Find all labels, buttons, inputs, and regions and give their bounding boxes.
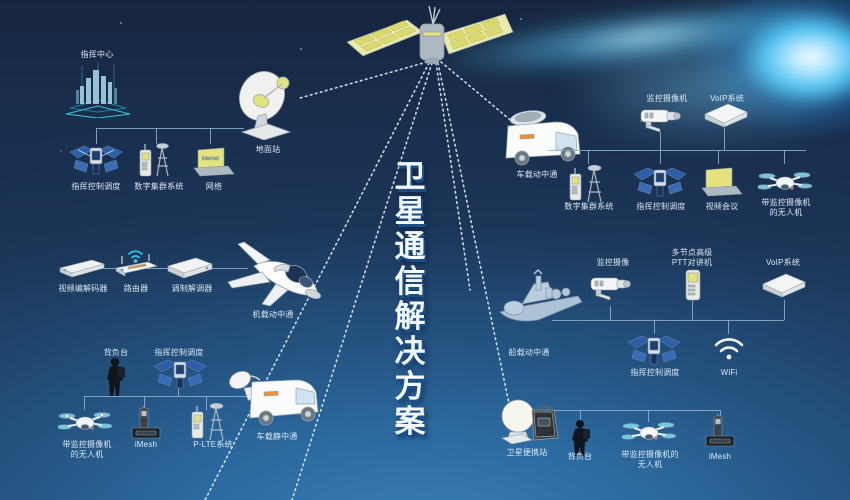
diagram-canvas: 卫 星 通 信 解 决 方 案 指挥中心 bbox=[0, 0, 850, 500]
title-char: 星 bbox=[384, 195, 436, 230]
star-icon bbox=[300, 48, 302, 50]
title-char: 决 bbox=[384, 335, 436, 370]
device-label: 视频编解码器 bbox=[52, 284, 114, 294]
device-label: 指挥控制调度 bbox=[622, 368, 688, 378]
device-label: P-LTE系统 bbox=[186, 440, 240, 450]
satellite bbox=[345, 4, 515, 79]
device-label: 带监控摄像机 的无人机 bbox=[748, 198, 824, 218]
device-label: 调制解调器 bbox=[164, 284, 220, 294]
voip-box-icon bbox=[702, 102, 750, 130]
camera-drone-icon bbox=[758, 168, 812, 198]
connector-line bbox=[552, 320, 784, 321]
device-label: 指挥控制调度 bbox=[62, 182, 130, 192]
star-icon bbox=[520, 18, 522, 20]
command-center-hologram-icon bbox=[62, 60, 134, 118]
backpack-operator-icon bbox=[566, 418, 596, 456]
modem-box-icon bbox=[166, 256, 214, 280]
device-label: 监控摄像 bbox=[586, 258, 640, 268]
device-label: iMesh bbox=[126, 440, 166, 450]
vehicle-mobile-hub-label: 车载动中通 bbox=[504, 170, 570, 180]
device-label: 视频会议 bbox=[700, 202, 744, 212]
command-console-icon bbox=[152, 356, 208, 390]
connector-line bbox=[692, 300, 693, 320]
imesh-radio-icon bbox=[702, 414, 738, 448]
connector-line bbox=[660, 150, 661, 164]
trunking-radio-tower-icon bbox=[138, 140, 176, 178]
connector-line bbox=[724, 128, 725, 150]
wifi-router-icon bbox=[112, 242, 160, 278]
trunking-radio-tower-icon bbox=[568, 162, 608, 204]
satcom-vehicle-mobile-icon bbox=[494, 108, 586, 170]
connector-line bbox=[784, 300, 785, 320]
star-icon bbox=[120, 22, 122, 24]
video-codec-box-icon bbox=[58, 258, 106, 278]
command-console-icon bbox=[632, 164, 688, 198]
device-label: iMesh bbox=[700, 452, 740, 462]
ground-station-label: 地面站 bbox=[238, 145, 298, 155]
title-char: 信 bbox=[384, 265, 436, 300]
page-title: 卫 星 通 信 解 决 方 案 bbox=[384, 160, 436, 440]
device-label: 多节点高级 PTT对讲机 bbox=[660, 248, 724, 268]
connector-line bbox=[96, 128, 244, 129]
device-label: 路由器 bbox=[114, 284, 158, 294]
naval-ship-icon bbox=[494, 268, 590, 332]
vehicle-static-hub-label: 车载静中通 bbox=[244, 432, 310, 442]
ptt-handset-icon bbox=[682, 268, 704, 302]
device-label: 指挥控制调度 bbox=[628, 202, 694, 212]
imesh-radio-icon bbox=[128, 406, 164, 440]
business-jet-icon bbox=[218, 238, 328, 314]
device-label: WiFi bbox=[712, 368, 746, 378]
device-label: 带监控摄像机的 无人机 bbox=[612, 450, 688, 470]
backpack-operator-icon bbox=[100, 356, 132, 396]
connector-line bbox=[784, 150, 785, 164]
camera-drone-icon bbox=[622, 418, 676, 448]
laptop-video-icon bbox=[698, 166, 744, 198]
device-label: 数字集群系统 bbox=[126, 182, 192, 192]
connector-line bbox=[610, 306, 611, 320]
device-label: 网络 bbox=[194, 182, 234, 192]
cctv-camera-icon bbox=[588, 270, 636, 302]
device-label: 数字集群系统 bbox=[556, 202, 622, 212]
voip-box-icon bbox=[760, 272, 808, 300]
ground-station-dish-icon bbox=[228, 68, 304, 140]
device-label: 带监控摄像机 的无人机 bbox=[52, 440, 122, 460]
camera-drone-icon bbox=[58, 408, 112, 438]
title-char: 通 bbox=[384, 230, 436, 265]
command-center-label: 指挥中心 bbox=[62, 50, 132, 60]
title-char: 案 bbox=[384, 405, 436, 440]
title-char: 方 bbox=[384, 370, 436, 405]
title-char: 卫 bbox=[384, 160, 436, 195]
connector-line bbox=[210, 128, 211, 144]
connector-line bbox=[548, 150, 806, 151]
connector-line bbox=[728, 320, 729, 334]
airborne-hub-label: 机载动中通 bbox=[240, 310, 306, 320]
plte-tower-icon bbox=[190, 400, 230, 442]
device-label: 背负台 bbox=[558, 452, 602, 462]
star-icon bbox=[60, 150, 62, 152]
portable-satellite-station-icon bbox=[496, 398, 566, 446]
portable-hub-label: 卫星便携站 bbox=[494, 448, 560, 458]
wifi-icon bbox=[712, 336, 746, 362]
command-console-icon bbox=[626, 332, 682, 366]
device-label: VoIP系统 bbox=[756, 258, 810, 268]
shipborne-hub-label: 船载动中通 bbox=[496, 348, 562, 358]
command-console-icon bbox=[68, 142, 124, 176]
cctv-camera-icon bbox=[638, 102, 686, 134]
connector-line bbox=[718, 150, 719, 164]
satcom-vehicle-static-icon bbox=[226, 358, 324, 430]
title-char: 解 bbox=[384, 300, 436, 335]
connector-line bbox=[660, 132, 661, 150]
laptop-internet-icon: internet bbox=[190, 146, 236, 178]
svg-text:internet: internet bbox=[202, 156, 219, 162]
connector-line bbox=[554, 410, 720, 411]
